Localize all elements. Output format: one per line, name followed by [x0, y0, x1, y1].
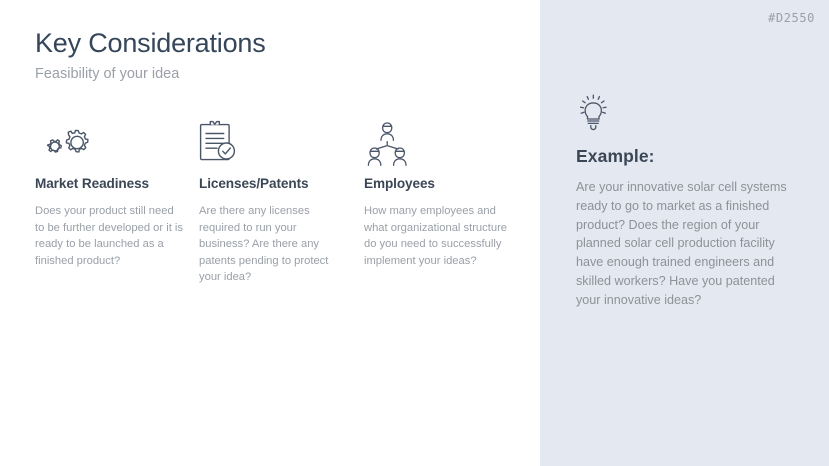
page-subtitle: Feasibility of your idea: [35, 66, 179, 82]
consideration-column-licenses-patents: Licenses/Patents Are there any licenses …: [199, 118, 354, 286]
slide: Example: Are your innovative solar cell …: [0, 0, 829, 466]
page-title: Key Considerations: [35, 28, 266, 59]
consideration-body: Are there any licenses required to run y…: [199, 203, 347, 286]
consideration-heading: Market Readiness: [35, 176, 190, 191]
gears-icon: [35, 118, 190, 168]
example-panel: Example: Are your innovative solar cell …: [540, 0, 829, 466]
clipboard-check-icon: [199, 118, 354, 168]
consideration-column-employees: Employees How many employees and what or…: [364, 118, 519, 269]
org-chart-people-icon: [364, 118, 519, 168]
consideration-body: How many employees and what organization…: [364, 203, 516, 269]
example-body: Are your innovative solar cell systems r…: [576, 178, 791, 310]
lightbulb-icon: [576, 90, 614, 134]
example-title: Example:: [576, 146, 655, 167]
consideration-column-market-readiness: Market Readiness Does your product still…: [35, 118, 190, 269]
consideration-heading: Employees: [364, 176, 519, 191]
slide-code-badge: #D2550: [768, 11, 815, 25]
consideration-heading: Licenses/Patents: [199, 176, 354, 191]
consideration-body: Does your product still need to be furth…: [35, 203, 183, 269]
